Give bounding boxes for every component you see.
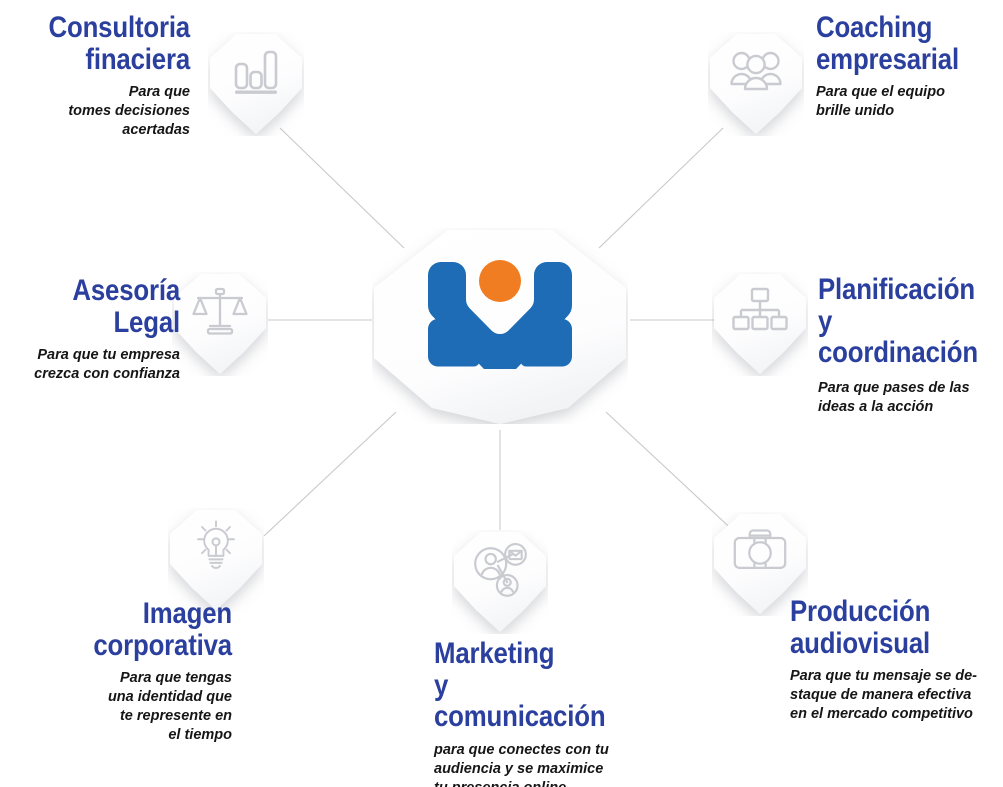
subtitle-coaching: Para que el equipo brille unido — [816, 83, 1003, 121]
title-coaching: Coaching empresarial — [816, 12, 977, 75]
title-marketing: Marketing y comunicación — [434, 638, 619, 733]
node-consultoria[interactable] — [208, 32, 304, 136]
node-planificacion[interactable] — [712, 272, 808, 376]
title-asesoria: Asesoría Legal — [27, 275, 180, 338]
label-consultoria: Consultoria finaciera Para que tomes dec… — [2, 12, 190, 140]
link-imagen — [264, 412, 396, 536]
node-coaching[interactable] — [708, 32, 804, 136]
subtitle-marketing: para que conectes con tu audiencia y se … — [434, 741, 649, 787]
label-asesoria: Asesoría Legal Para que tu empresa crezc… — [2, 275, 180, 384]
label-planificacion: Planificación y coordinación Para que pa… — [818, 274, 1003, 417]
title-produccion: Producción audiovisual — [790, 596, 973, 659]
scales-of-justice-icon — [192, 284, 248, 340]
company-m-logo — [425, 259, 575, 369]
label-marketing: Marketing y comunicación para que conect… — [434, 638, 649, 787]
label-coaching: Coaching empresarial Para que el equipo … — [816, 12, 1003, 121]
infographic-canvas: Consultoria finaciera Para que tomes dec… — [0, 0, 1003, 787]
label-imagen: Imagen corporativa Para que tengas una i… — [30, 598, 232, 746]
title-consultoria: Consultoria finaciera — [28, 12, 190, 75]
bar-chart-icon — [228, 44, 284, 100]
logo-orange-dot — [479, 260, 521, 302]
subtitle-imagen: Para que tengas una identidad que te rep… — [30, 669, 232, 746]
org-chart-icon — [732, 284, 788, 340]
camera-icon — [732, 524, 788, 580]
group-people-icon — [728, 44, 784, 100]
node-asesoria[interactable] — [172, 272, 268, 376]
title-imagen: Imagen corporativa — [58, 598, 232, 661]
subtitle-consultoria: Para que tomes decisiones acertadas — [2, 83, 190, 140]
subtitle-produccion: Para que tu mensaje se de- staque de man… — [790, 667, 1003, 724]
title-planificacion: Planificación y coordinación — [818, 274, 977, 369]
node-marketing[interactable] — [452, 530, 548, 634]
label-produccion: Producción audiovisual Para que tu mensa… — [790, 596, 1003, 724]
subtitle-asesoria: Para que tu empresa crezca con confianza — [2, 346, 180, 384]
lightbulb-icon — [188, 520, 244, 576]
subtitle-planificacion: Para que pases de las ideas a la acción — [818, 379, 1003, 417]
social-network-icon — [469, 541, 531, 603]
center-hub — [372, 228, 628, 424]
